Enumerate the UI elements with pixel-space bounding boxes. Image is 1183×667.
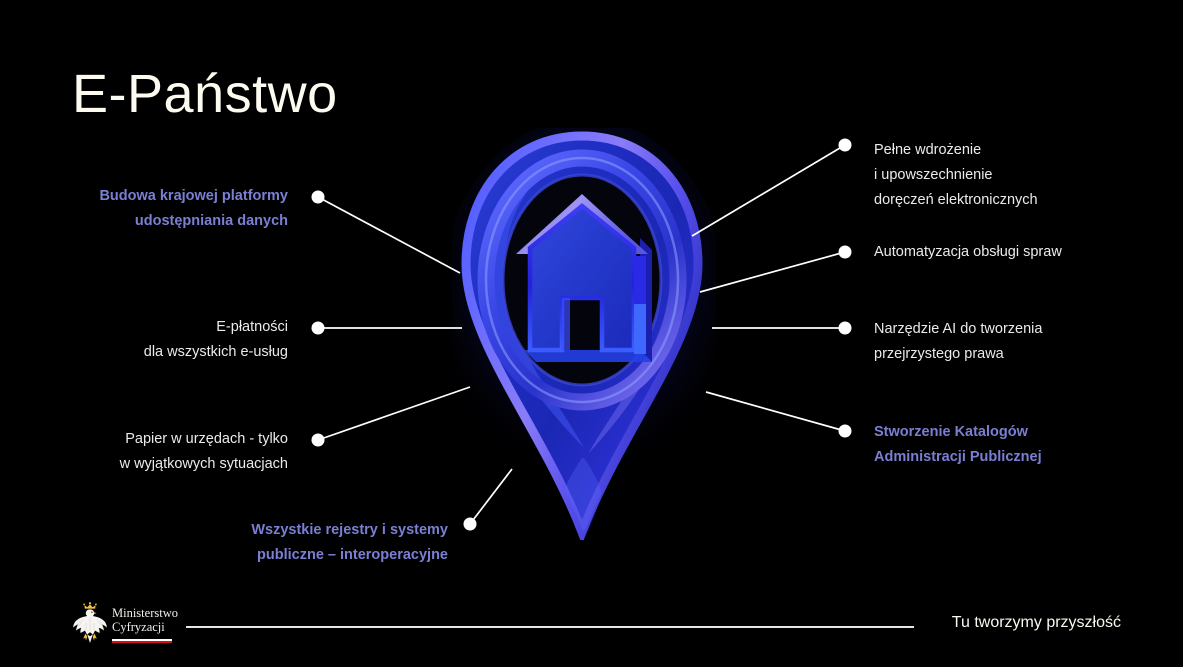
connector-line-katalogi-administracji (706, 392, 845, 431)
polish-flag-bar (112, 639, 172, 643)
footer-tagline: Tu tworzymy przyszłość (952, 614, 1121, 632)
ministry-logo-text: Ministerstwo Cyfryzacji (112, 606, 178, 634)
connector-dot-automatyzacja-obslugi (839, 246, 852, 259)
callout-automatyzacja-obslugi: Automatyzacja obsługi spraw (874, 240, 1124, 265)
callout-e-platnosci: E-płatności dla wszystkich e-usług (40, 315, 288, 365)
callout-narzedzie-ai: Narzędzie AI do tworzenia przejrzystego … (874, 317, 1124, 367)
ministry-logo: Ministerstwo Cyfryzacji (70, 601, 180, 651)
connector-line-budowa-platformy (318, 197, 460, 273)
connector-line-rejestry-interoperacyjne (470, 469, 512, 524)
connector-dot-katalogi-administracji (839, 425, 852, 438)
connector-dot-narzedzie-ai (839, 322, 852, 335)
connector-dot-rejestry-interoperacyjne (464, 518, 477, 531)
connector-line-doreczenia-elektroniczne (692, 145, 845, 236)
connector-dot-budowa-platformy (312, 191, 325, 204)
connector-dot-e-platnosci (312, 322, 325, 335)
callout-budowa-platformy: Budowa krajowej platformy udostępniania … (40, 184, 288, 234)
callout-katalogi-administracji: Stworzenie Katalogów Administracji Publi… (874, 420, 1124, 470)
callout-papier-w-urzedach: Papier w urzędach - tylko w wyjątkowych … (40, 427, 288, 477)
callout-doreczenia-elektroniczne: Pełne wdrożenie i upowszechnienie doręcz… (874, 138, 1124, 213)
connector-dot-papier-w-urzedach (312, 434, 325, 447)
polish-eagle-emblem-icon (70, 601, 110, 645)
callout-rejestry-interoperacyjne: Wszystkie rejestry i systemy publiczne –… (190, 518, 448, 568)
connector-line-automatyzacja-obslugi (700, 252, 845, 292)
footer-divider-line (186, 626, 914, 628)
slide-canvas: E-Państwo (0, 0, 1183, 667)
connector-dot-doreczenia-elektroniczne (839, 139, 852, 152)
connector-line-papier-w-urzedach (318, 387, 470, 440)
